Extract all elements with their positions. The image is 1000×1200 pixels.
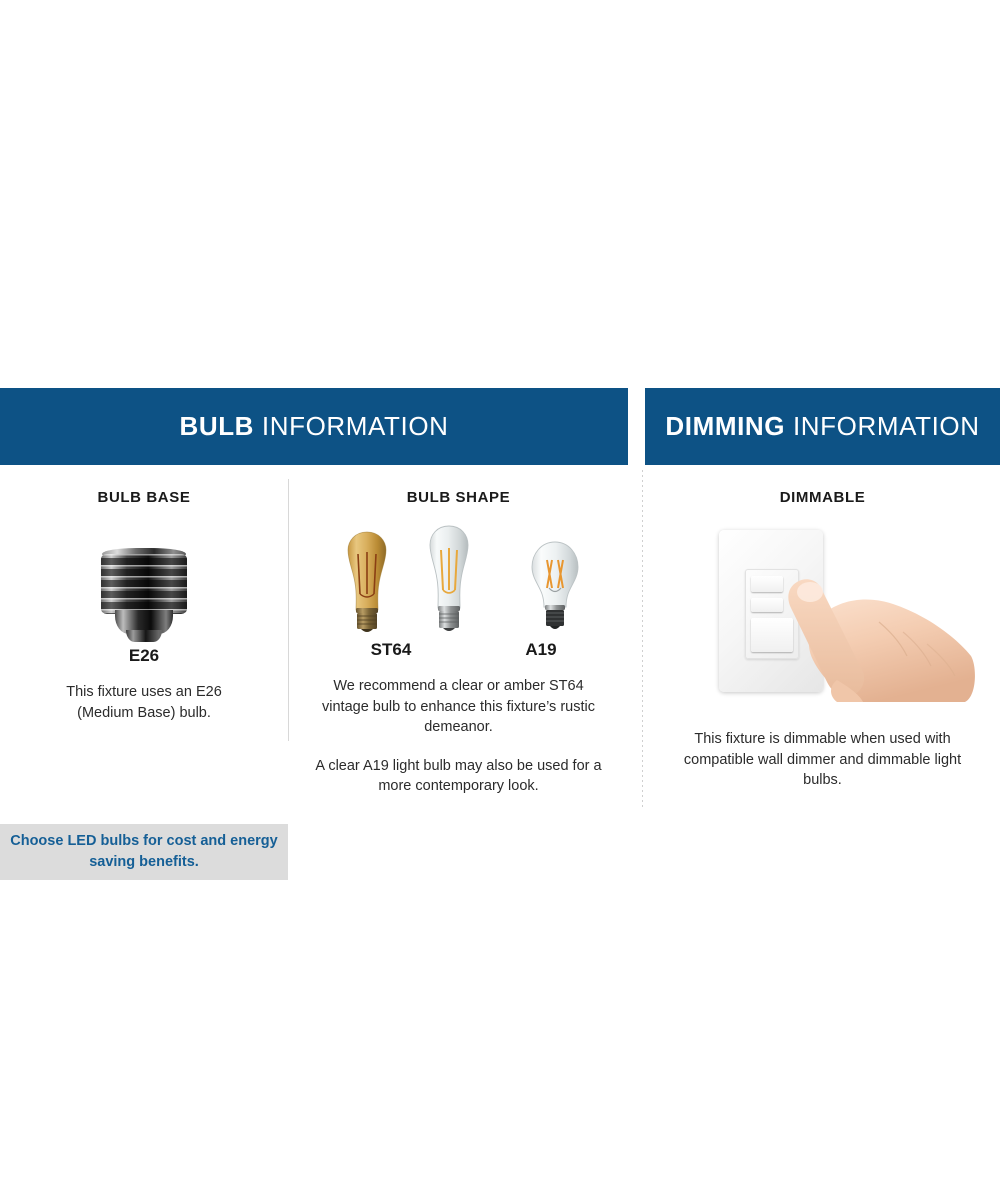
bulb-shape-column: BULB SHAPE — [289, 465, 628, 797]
bulb-base-column: BULB BASE E26 This fixture uses an E26 (… — [0, 465, 288, 723]
st64-clear-bulb-image — [413, 522, 485, 640]
e26-tip — [126, 630, 162, 642]
dimming-information-header-light: INFORMATION — [785, 411, 979, 441]
bulb-base-caption: E26 — [0, 646, 288, 666]
bulb-columns: BULB BASE E26 This fixture uses an E26 (… — [0, 465, 628, 820]
bulb-base-figure-row — [0, 522, 288, 644]
wall-dimmer-switch-with-hand-image — [663, 524, 983, 709]
bulb-base-title: BULB BASE — [0, 489, 288, 506]
bulb-shape-description-2: A clear A19 light bulb may also be used … — [311, 756, 606, 797]
led-recommendation-text: Choose LED bulbs for cost and energy sav… — [0, 831, 288, 873]
dimming-information-header: DIMMING INFORMATION — [645, 388, 1000, 465]
dimming-information-body: DIMMABLE — [645, 489, 1000, 791]
dimmable-title: DIMMABLE — [645, 489, 1000, 506]
panel-dotted-divider — [642, 470, 643, 808]
e26-screw-threads — [101, 554, 187, 614]
dimming-information-panel: DIMMING INFORMATION DIMMABLE — [645, 388, 1000, 791]
bulb-information-body: BULB BASE E26 This fixture uses an E26 (… — [0, 465, 628, 820]
bulb-base-description: This fixture uses an E26 (Medium Base) b… — [24, 682, 264, 723]
dimming-information-header-text: DIMMING INFORMATION — [665, 411, 979, 442]
bulb-shape-caption-st64: ST64 — [361, 640, 421, 660]
e26-base-image — [94, 546, 194, 644]
bulb-information-header-light: INFORMATION — [254, 411, 448, 441]
dimmable-description: This fixture is dimmable when used with … — [678, 729, 968, 791]
bulb-information-header: BULB INFORMATION — [0, 388, 628, 465]
bulb-information-header-bold: BULB — [179, 411, 254, 441]
product-info-band: BULB INFORMATION BULB BASE — [0, 388, 1000, 818]
bulb-shape-captions: ST64 A19 — [289, 640, 628, 664]
bulb-shape-figure-row — [289, 518, 628, 640]
pointing-hand-illustration — [767, 576, 977, 704]
st64-amber-bulb-image — [331, 528, 403, 640]
bulb-information-panel: BULB INFORMATION BULB BASE — [0, 388, 628, 820]
bulb-shape-caption-a19: A19 — [511, 640, 571, 660]
bulb-information-header-text: BULB INFORMATION — [179, 411, 448, 442]
bulb-shape-description-1: We recommend a clear or amber ST64 vinta… — [316, 676, 601, 738]
bulb-shape-title: BULB SHAPE — [289, 489, 628, 506]
dimming-information-header-bold: DIMMING — [665, 411, 785, 441]
led-recommendation-callout: Choose LED bulbs for cost and energy sav… — [0, 824, 288, 880]
a19-clear-bulb-image — [523, 538, 587, 640]
